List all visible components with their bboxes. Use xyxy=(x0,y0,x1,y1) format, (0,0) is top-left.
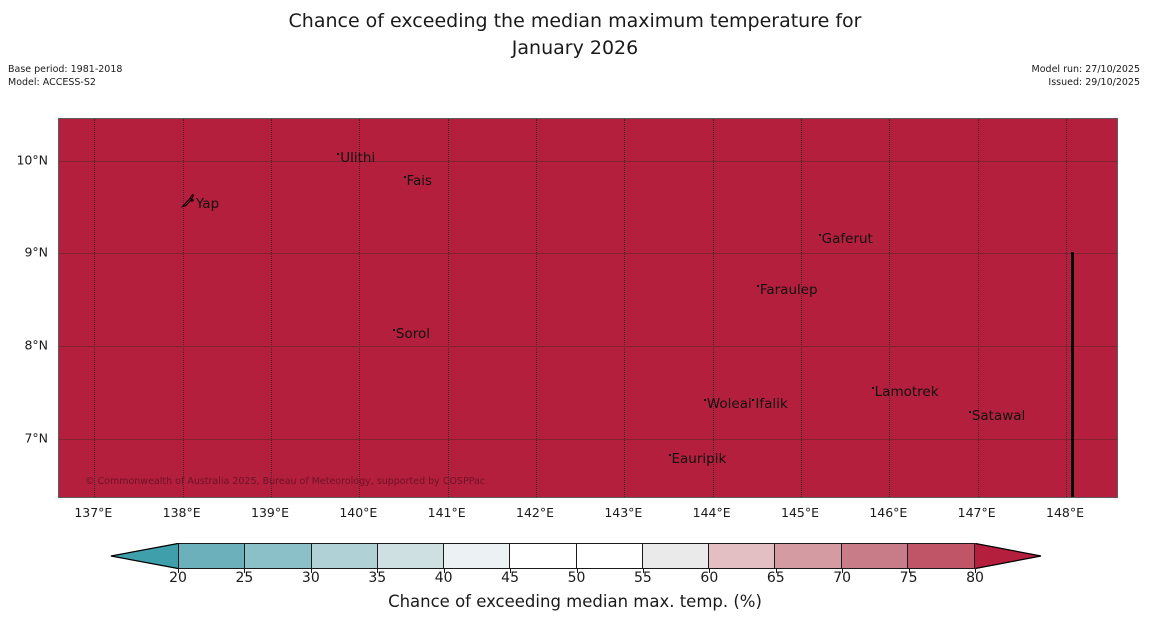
map-place-marker-dot xyxy=(337,153,339,155)
longitude-tick-label: 143°E xyxy=(604,505,642,520)
map-gridline-horizontal xyxy=(59,253,1117,254)
map-place-name: Faraulep xyxy=(760,282,818,298)
metadata-left: Base period: 1981-2018 Model: ACCESS-S2 xyxy=(8,64,122,90)
colorbar xyxy=(0,543,1150,569)
latitude-tick-label: 10°N xyxy=(16,152,48,167)
longitude-tick-label: 148°E xyxy=(1046,505,1084,520)
colorbar-tick-label: 25 xyxy=(235,570,253,586)
map-gridline-vertical xyxy=(801,119,802,497)
colorbar-extend-high-arrow xyxy=(975,543,1041,569)
map-gridline-vertical xyxy=(624,119,625,497)
map-gridline-vertical xyxy=(1066,119,1067,497)
latitude-tick-label: 9°N xyxy=(24,245,48,260)
longitude-tick-label: 139°E xyxy=(251,505,289,520)
colorbar-extend-low-arrow xyxy=(110,543,178,569)
metadata-right: Model run: 27/10/2025 Issued: 29/10/2025 xyxy=(1032,64,1140,90)
map-gridline-horizontal xyxy=(59,439,1117,440)
map-place-label: Satawal xyxy=(969,408,1025,424)
map-place-label: Ifalik xyxy=(752,396,787,412)
colorbar-band xyxy=(312,544,378,568)
map-place-name: Eauripik xyxy=(672,451,727,467)
colorbar-tick-label: 55 xyxy=(634,570,652,586)
map-place-name: Ifalik xyxy=(755,396,787,412)
colorbar-tick-label: 60 xyxy=(700,570,718,586)
map-place-name: Ulithi xyxy=(340,150,375,166)
map-place-name: Gaferut xyxy=(822,231,873,247)
map-plot-area: YapUlithiFaisSorolGaferutFaraulepWoleaiI… xyxy=(58,118,1118,498)
colorbar-tick-label: 80 xyxy=(966,570,984,586)
longitude-tick-label: 142°E xyxy=(516,505,554,520)
colorbar-tick-label: 50 xyxy=(568,570,586,586)
map-place-marker-dot xyxy=(393,329,395,331)
colorbar-band xyxy=(245,544,311,568)
map-place-label: Faraulep xyxy=(757,282,818,298)
colorbar-tick-label: 35 xyxy=(368,570,386,586)
copyright-text: © Commonwealth of Australia 2025, Bureau… xyxy=(85,476,485,487)
map-place-label: Yap xyxy=(196,196,219,212)
colorbar-band xyxy=(709,544,775,568)
colorbar-band xyxy=(378,544,444,568)
map-place-marker-dot xyxy=(872,387,874,389)
map-place-label: Lamotrek xyxy=(872,384,939,400)
base-period-text: Base period: 1981-2018 xyxy=(8,64,122,77)
map-place-name: Woleai xyxy=(707,396,752,412)
map-place-name: Fais xyxy=(407,173,433,189)
longitude-tick-label: 137°E xyxy=(74,505,112,520)
map-gridline-vertical xyxy=(271,119,272,497)
map-place-name: Sorol xyxy=(396,326,430,342)
issued-text: Issued: 29/10/2025 xyxy=(1032,77,1140,90)
map-place-name: Satawal xyxy=(972,408,1025,424)
map-gridline-vertical xyxy=(94,119,95,497)
map-gridline-vertical xyxy=(359,119,360,497)
longitude-tick-label: 144°E xyxy=(693,505,731,520)
colorbar-bands xyxy=(178,543,975,569)
map-place-marker-dot xyxy=(757,285,759,287)
colorbar-tick-label: 40 xyxy=(435,570,453,586)
longitude-tick-label: 138°E xyxy=(163,505,201,520)
map-place-marker-dot xyxy=(704,399,706,401)
map-gridline-vertical xyxy=(978,119,979,497)
map-place-label: Gaferut xyxy=(819,231,873,247)
colorbar-tick-label: 75 xyxy=(900,570,918,586)
page-title: Chance of exceeding the median maximum t… xyxy=(0,8,1150,61)
colorbar-tick-label: 30 xyxy=(302,570,320,586)
colorbar-band xyxy=(577,544,643,568)
longitude-tick-label: 146°E xyxy=(869,505,907,520)
model-text: Model: ACCESS-S2 xyxy=(8,77,122,90)
title-line-2: January 2026 xyxy=(0,35,1150,62)
colorbar-tick-label: 65 xyxy=(767,570,785,586)
longitude-tick-label: 141°E xyxy=(428,505,466,520)
longitude-tick-label: 147°E xyxy=(958,505,996,520)
colorbar-band xyxy=(643,544,709,568)
map-place-label: Sorol xyxy=(393,326,430,342)
map-place-name: Lamotrek xyxy=(875,384,939,400)
map-place-marker-dot xyxy=(669,454,671,456)
map-gridline-vertical xyxy=(183,119,184,497)
map-place-label: Fais xyxy=(404,173,433,189)
map-gridline-vertical xyxy=(536,119,537,497)
colorbar-tick-label: 70 xyxy=(833,570,851,586)
map-place-marker-dot xyxy=(752,399,754,401)
colorbar-tick-label: 20 xyxy=(169,570,187,586)
map-gridline-vertical xyxy=(448,119,449,497)
map-place-marker-dot xyxy=(819,234,821,236)
map-place-label: Ulithi xyxy=(337,150,375,166)
title-line-1: Chance of exceeding the median maximum t… xyxy=(0,8,1150,35)
map-place-marker-dot xyxy=(404,176,406,178)
map-probability-raster xyxy=(59,119,1117,497)
map-gridline-horizontal xyxy=(59,161,1117,162)
map-place-marker-dot xyxy=(969,411,971,413)
colorbar-band xyxy=(908,544,974,568)
map-gridline-vertical xyxy=(889,119,890,497)
longitude-tick-label: 145°E xyxy=(781,505,819,520)
map-place-label: Eauripik xyxy=(669,451,727,467)
colorbar-tick-label: 45 xyxy=(501,570,519,586)
latitude-tick-label: 7°N xyxy=(24,430,48,445)
colorbar-band xyxy=(179,544,245,568)
colorbar-band xyxy=(842,544,908,568)
model-run-text: Model run: 27/10/2025 xyxy=(1032,64,1140,77)
map-place-name: Yap xyxy=(196,196,219,212)
longitude-tick-label: 140°E xyxy=(339,505,377,520)
map-place-label: Woleai xyxy=(704,396,752,412)
colorbar-band xyxy=(444,544,510,568)
colorbar-axis-label: Chance of exceeding median max. temp. (%… xyxy=(0,592,1150,611)
map-gridline-vertical xyxy=(713,119,714,497)
colorbar-band xyxy=(775,544,841,568)
eez-boundary-line xyxy=(1071,252,1074,498)
colorbar-band xyxy=(510,544,576,568)
map-gridline-horizontal xyxy=(59,346,1117,347)
latitude-tick-label: 8°N xyxy=(24,338,48,353)
